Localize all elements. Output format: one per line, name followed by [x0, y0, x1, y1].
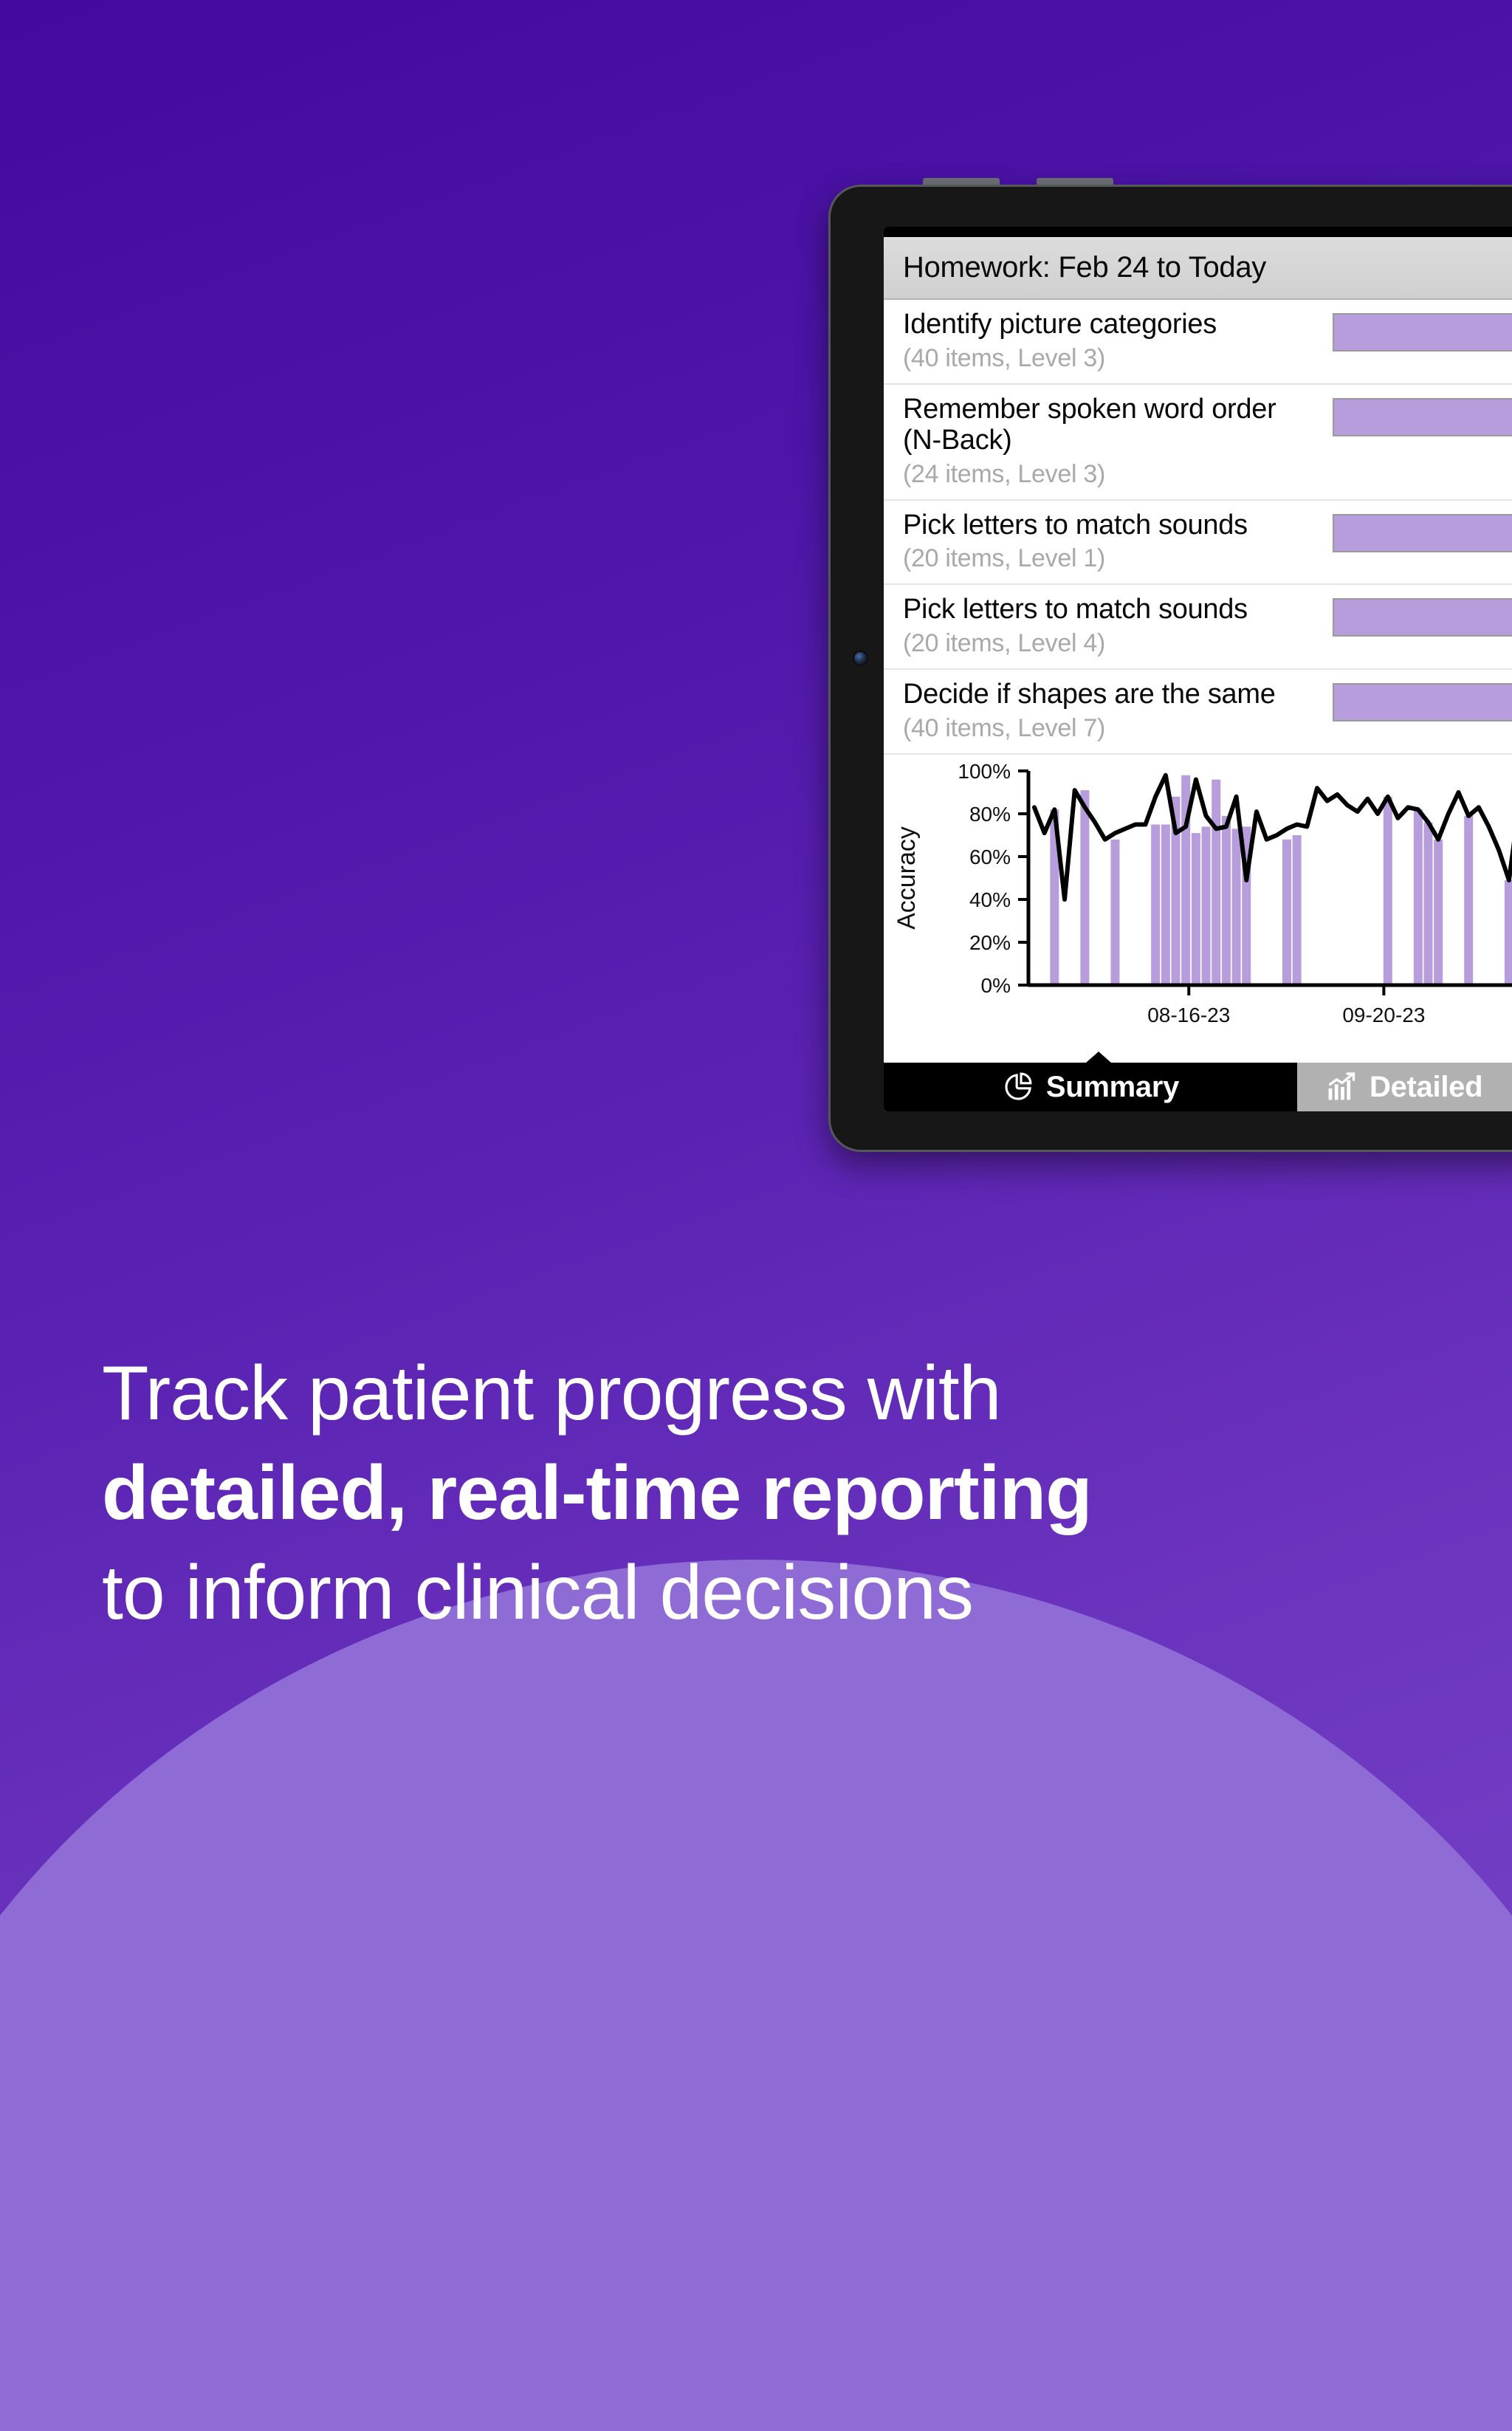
- svg-text:0%: 0%: [981, 974, 1011, 997]
- progress-bar-track: [1333, 398, 1512, 436]
- status-bar: [884, 227, 1512, 237]
- table-row[interactable]: Pick letters to match sounds (20 items, …: [884, 585, 1512, 670]
- table-row[interactable]: Remember spoken word order (N-Back) (24 …: [884, 385, 1512, 501]
- tablet-screen: Homework: Feb 24 to Today Identify pictu…: [884, 227, 1512, 1111]
- svg-text:09-20-23: 09-20-23: [1342, 1004, 1425, 1026]
- tab-detailed-label: Detailed: [1370, 1071, 1482, 1104]
- row-title: Identify picture categories: [903, 309, 1316, 340]
- progress-bar-track: [1333, 514, 1512, 552]
- homework-list-header: Homework: Feb 24 to Today: [884, 237, 1512, 300]
- row-title: Decide if shapes are the same: [903, 679, 1316, 710]
- active-tab-caret: [1086, 1052, 1111, 1063]
- svg-text:08-16-23: 08-16-23: [1147, 1004, 1230, 1026]
- row-subtitle: (40 items, Level 3): [903, 344, 1316, 373]
- table-row[interactable]: Pick letters to match sounds (20 items, …: [884, 501, 1512, 586]
- bottom-tab-bar: Summary Detailed: [884, 1063, 1512, 1111]
- progress-bar-fill: [1334, 515, 1512, 551]
- svg-text:80%: 80%: [969, 803, 1011, 826]
- row-text: Pick letters to match sounds (20 items, …: [903, 594, 1316, 658]
- tab-summary[interactable]: Summary: [884, 1063, 1297, 1111]
- pie-chart-icon: [1002, 1071, 1034, 1103]
- svg-text:20%: 20%: [969, 931, 1011, 954]
- table-row[interactable]: Decide if shapes are the same (40 items,…: [884, 670, 1512, 755]
- row-subtitle: (20 items, Level 4): [903, 629, 1316, 658]
- tablet-device-mockup: Homework: Feb 24 to Today Identify pictu…: [828, 185, 1512, 1152]
- svg-text:100%: 100%: [958, 761, 1011, 783]
- headline-line-1: Track patient progress with: [102, 1344, 1431, 1444]
- progress-bar-fill: [1334, 685, 1512, 720]
- row-subtitle: (20 items, Level 1): [903, 544, 1316, 573]
- row-subtitle: (40 items, Level 7): [903, 714, 1316, 743]
- progress-bar-fill: [1334, 315, 1512, 350]
- row-text: Identify picture categories (40 items, L…: [903, 309, 1316, 373]
- svg-text:60%: 60%: [969, 846, 1011, 868]
- row-title: Pick letters to match sounds: [903, 594, 1316, 625]
- accuracy-chart: 0%20%40%60%80%100%08-16-2309-20-2310-24-…: [884, 755, 1512, 1052]
- headline-line-2: detailed, real-time reporting: [102, 1444, 1431, 1543]
- row-text: Remember spoken word order (N-Back) (24 …: [903, 394, 1316, 489]
- row-subtitle: (24 items, Level 3): [903, 460, 1316, 489]
- tab-detailed[interactable]: Detailed: [1297, 1063, 1512, 1111]
- front-camera-icon: [854, 652, 867, 665]
- table-row[interactable]: Identify picture categories (40 items, L…: [884, 300, 1512, 385]
- row-title: Remember spoken word order (N-Back): [903, 394, 1316, 456]
- bar-chart-trend-icon: [1325, 1071, 1358, 1103]
- svg-text:Accuracy: Accuracy: [893, 826, 921, 930]
- row-text: Decide if shapes are the same (40 items,…: [903, 679, 1316, 743]
- progress-bar-track: [1333, 313, 1512, 352]
- headline-line-3: to inform clinical decisions: [102, 1543, 1431, 1643]
- progress-bar-fill: [1334, 600, 1512, 635]
- tab-summary-label: Summary: [1046, 1071, 1179, 1104]
- tablet-frame: Homework: Feb 24 to Today Identify pictu…: [828, 185, 1512, 1152]
- svg-text:40%: 40%: [969, 888, 1011, 911]
- progress-bar-fill: [1334, 400, 1512, 435]
- progress-bar-track: [1333, 683, 1512, 721]
- marketing-headline: Track patient progress with detailed, re…: [102, 1344, 1431, 1644]
- accuracy-chart-svg: 0%20%40%60%80%100%08-16-2309-20-2310-24-…: [884, 761, 1512, 1041]
- row-title: Pick letters to match sounds: [903, 510, 1316, 541]
- row-text: Pick letters to match sounds (20 items, …: [903, 510, 1316, 574]
- progress-bar-track: [1333, 598, 1512, 637]
